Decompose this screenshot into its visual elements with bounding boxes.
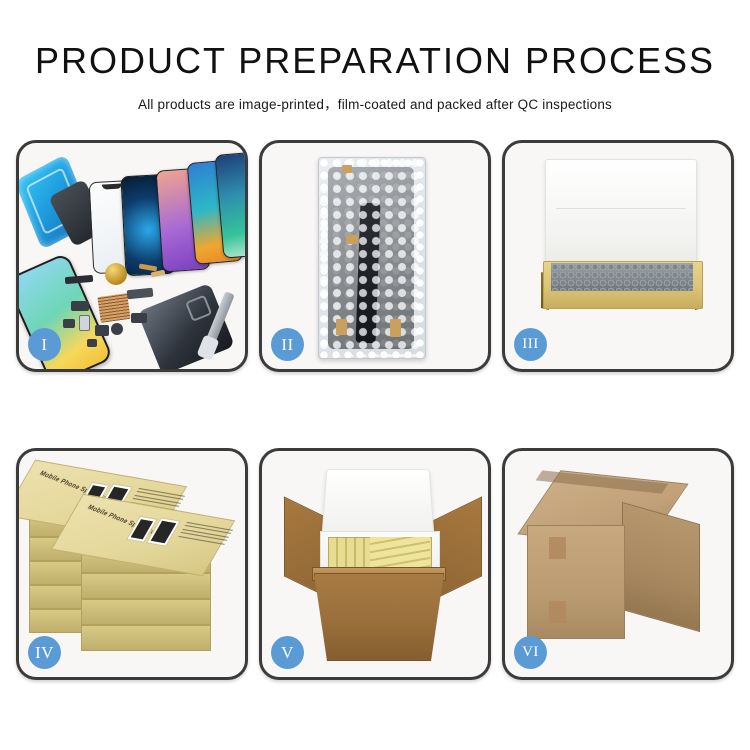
step-badge-6: VI [514, 636, 547, 669]
retail-box-front-2 [81, 573, 211, 599]
tape-piece-1-icon [342, 165, 352, 173]
process-step-4: Mobile Phone Spare Parts Mobile Phone Sp… [16, 448, 248, 680]
retail-box-front-3 [81, 599, 211, 625]
foam-box-lid-icon [321, 469, 434, 538]
step-badge-3: III [514, 328, 547, 361]
tape-piece-3-icon [336, 319, 347, 335]
carton-front-face [527, 525, 625, 639]
chip-h-icon [63, 319, 75, 328]
speaker-module-icon [105, 263, 127, 285]
camera-module-icon [79, 315, 90, 331]
process-step-1: I [16, 140, 248, 372]
tape-piece-4-icon [390, 319, 401, 337]
header: PRODUCT PREPARATION PROCESS All products… [0, 0, 750, 113]
process-step-3: III [502, 140, 734, 372]
chip-a-icon [71, 301, 89, 311]
chip-c-icon [95, 325, 109, 336]
product-preparation-infographic: PRODUCT PREPARATION PROCESS All products… [0, 0, 750, 750]
tape-piece-2-icon [346, 235, 358, 244]
chip-e-icon [131, 313, 147, 323]
step-badge-2: II [271, 328, 304, 361]
step-badge-1: I [28, 328, 61, 361]
bubble-wrapped-contents-icon [551, 263, 693, 291]
page-title: PRODUCT PREPARATION PROCESS [0, 42, 750, 80]
retail-box-front-4 [81, 625, 211, 651]
box-spec-lines-2 [177, 522, 233, 547]
carton-body-icon [314, 573, 444, 661]
carton-tape-upper [549, 537, 566, 559]
step-badge-4: IV [28, 636, 61, 669]
step-badge-5: V [271, 636, 304, 669]
process-step-grid: I II III [16, 140, 734, 680]
copper-shield-mesh-icon [97, 293, 130, 323]
process-step-5: V [259, 448, 491, 680]
foam-lid-icon [545, 159, 697, 277]
antenna-flex-icon [127, 288, 154, 300]
page-subtitle: All products are image-printed，film-coat… [0, 93, 750, 113]
chip-g-icon [87, 339, 97, 347]
carton-tape-lower [549, 601, 566, 623]
process-step-6: VI [502, 448, 734, 680]
carton-right-face [622, 502, 700, 632]
flex-cable-icon [65, 275, 94, 284]
vibrator-motor-icon [111, 323, 123, 335]
process-step-2: II [259, 140, 491, 372]
